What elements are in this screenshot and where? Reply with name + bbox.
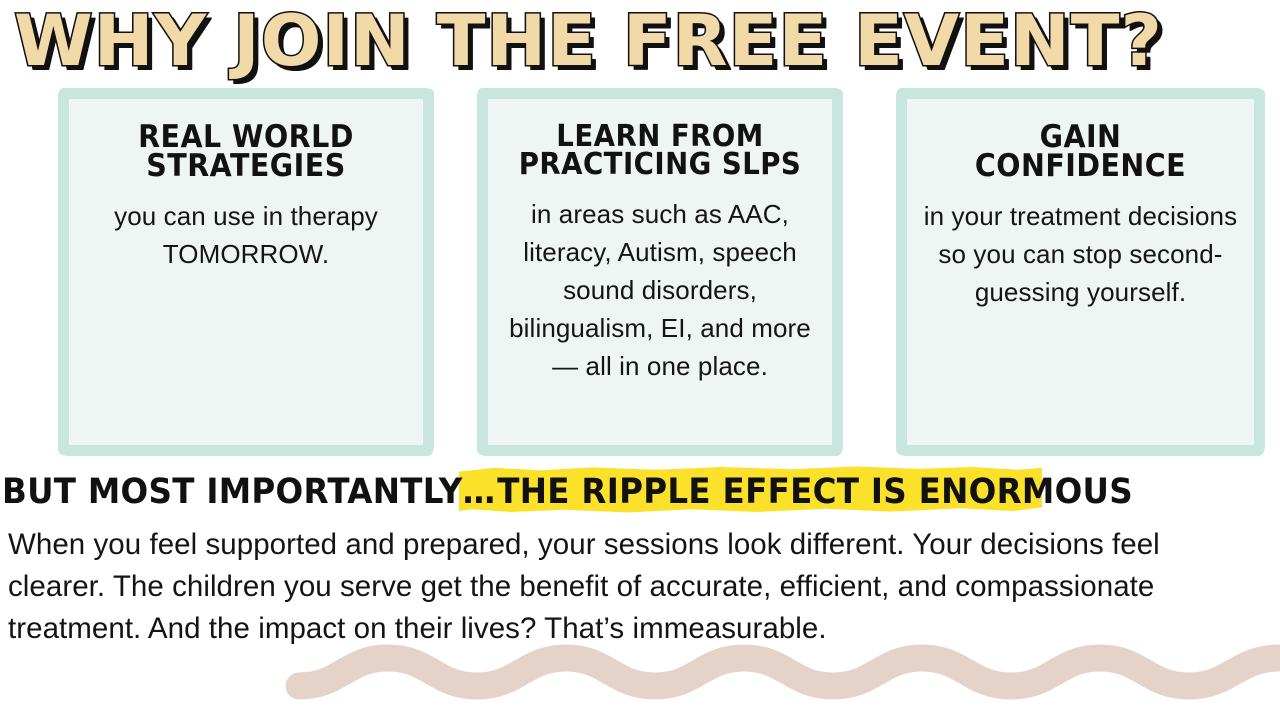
ripple-effect-text: BUT MOST IMPORTANTLY…THE RIPPLE EFFECT I…: [2, 466, 1135, 518]
card-body: in areas such as AAC, literacy, Autism, …: [504, 196, 816, 386]
card-title: REAL WORLD STRATEGIES: [98, 123, 394, 180]
benefit-card-learn-from-practicing-slps: LEARN FROM PRACTICING SLPS in areas such…: [477, 88, 843, 456]
ripple-highlighted-text: THE RIPPLE EFFECT IS ENORMOUS: [495, 472, 1134, 512]
body-paragraph: When you feel supported and prepared, yo…: [8, 524, 1243, 650]
wavy-underline-decoration: [285, 640, 1280, 720]
benefit-card-row: REAL WORLD STRATEGIES you can use in the…: [0, 88, 1280, 458]
page-title: WHY JOIN THE FREE EVENT?: [14, 2, 1034, 80]
card-title: GAIN CONFIDENCE: [936, 123, 1226, 180]
card-body: in your treatment decisions so you can s…: [923, 198, 1238, 312]
ripple-lead-text: BUT MOST IMPORTANTLY…: [2, 472, 495, 512]
ripple-effect-line: BUT MOST IMPORTANTLY…THE RIPPLE EFFECT I…: [0, 466, 1280, 518]
slide-canvas: WHY JOIN THE FREE EVENT? REAL WORLD STRA…: [0, 0, 1280, 720]
benefit-card-real-world-strategies: REAL WORLD STRATEGIES you can use in the…: [58, 88, 434, 456]
card-body: you can use in therapy TOMORROW.: [85, 198, 407, 274]
benefit-card-gain-confidence: GAIN CONFIDENCE in your treatment decisi…: [896, 88, 1265, 456]
card-title: LEARN FROM PRACTICING SLPS: [516, 123, 803, 178]
